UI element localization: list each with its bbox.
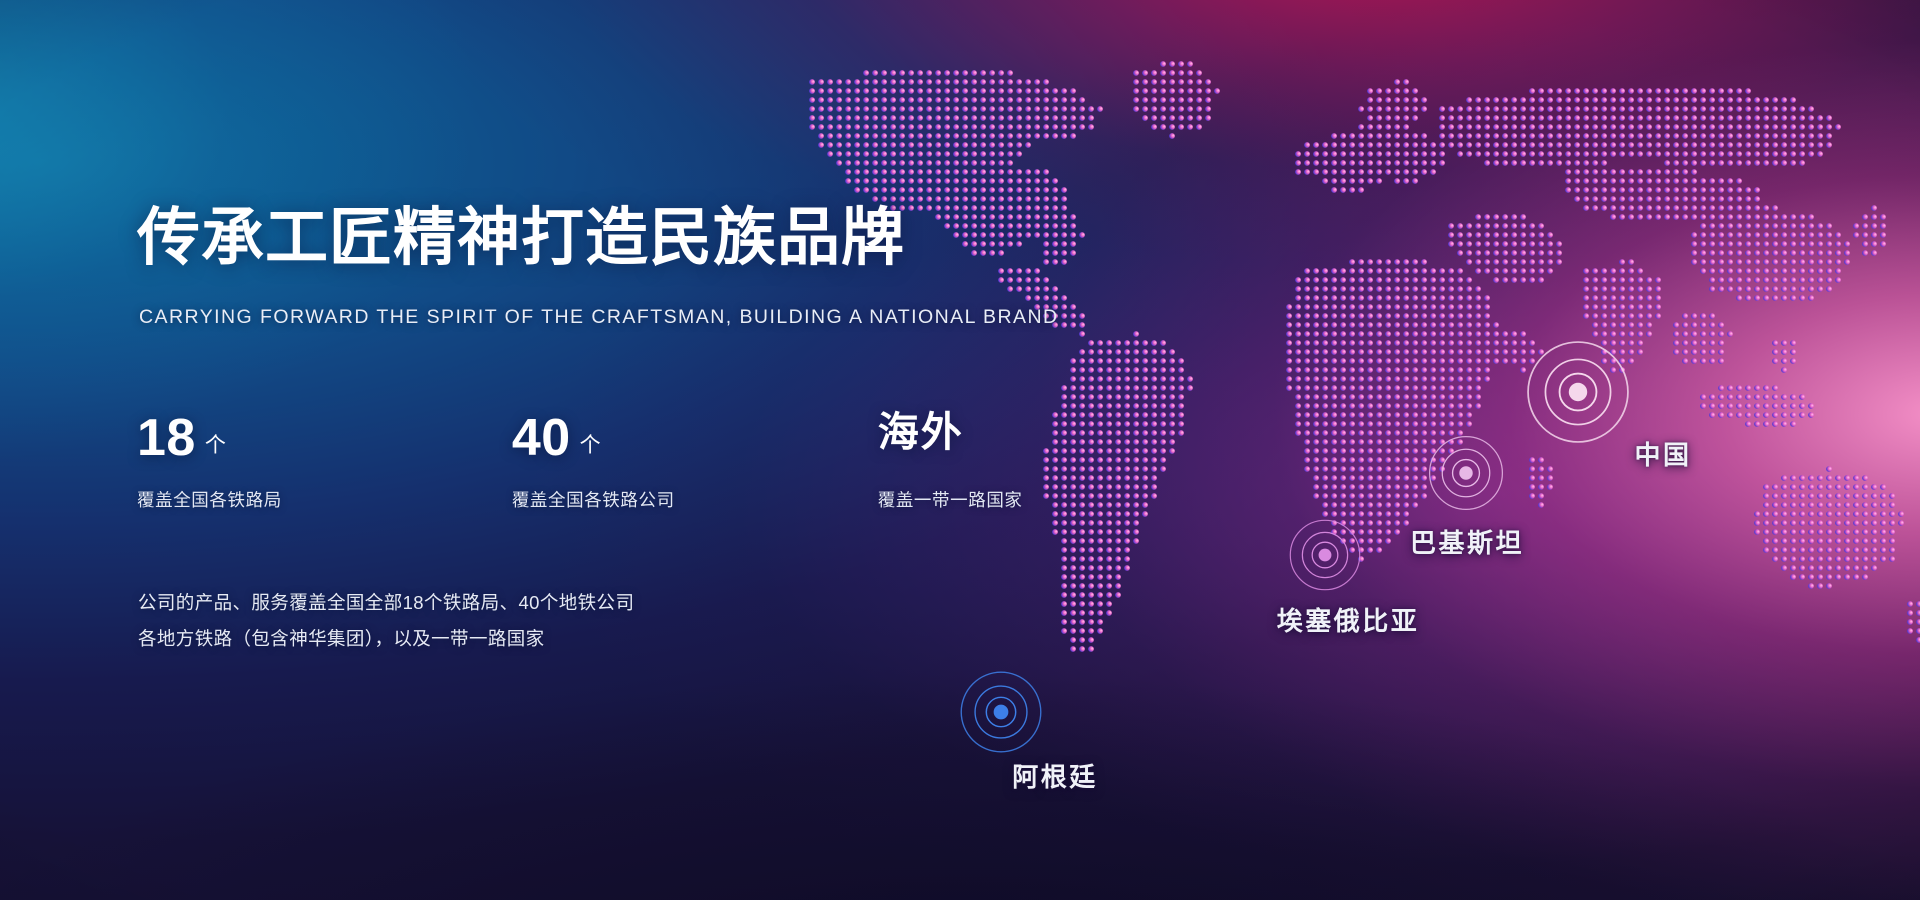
map-marker-pakistan[interactable] [1426,433,1505,512]
stat-label: 覆盖全国各铁路公司 [512,487,675,512]
stat-value-row: 40个 [512,412,675,474]
map-marker-label-ethiopia: 埃塞俄比亚 [1277,601,1420,638]
map-marker-china[interactable] [1524,338,1633,447]
page-title: 传承工匠精神打造民族品牌 [137,205,905,272]
map-marker-label-pakistan: 巴基斯坦 [1410,523,1524,560]
stat-value-row: 18个 [137,412,282,474]
page-subtitle: CARRYING FORWARD THE SPIRIT OF THE CRAFT… [139,306,1059,329]
stat-label: 覆盖一带一路国家 [878,487,1023,512]
marker-rings-icon [1287,517,1362,592]
marker-rings-icon [1524,338,1633,447]
statistics-row: 18个覆盖全国各铁路局40个覆盖全国各铁路公司海外覆盖一带一路国家 [137,412,1023,512]
stat-value: 18 [137,412,196,464]
description-line-0: 公司的产品、服务覆盖全国全部18个铁路局、40个地铁公司 [138,585,634,621]
marker-rings-icon [958,669,1044,755]
stat-value: 海外 [878,412,964,453]
stat-item-0: 18个覆盖全国各铁路局 [137,412,282,512]
stat-label: 覆盖全国各铁路局 [137,487,282,512]
marker-rings-icon [1426,433,1505,512]
map-marker-argentina[interactable] [958,669,1044,755]
description-line-1: 各地方铁路（包含神华集团），以及一带一路国家 [138,621,634,657]
stat-item-2: 海外覆盖一带一路国家 [878,412,1023,512]
map-marker-ethiopia[interactable] [1287,517,1362,592]
map-marker-label-china: 中国 [1634,435,1691,472]
stat-value-row: 海外 [878,412,1023,474]
map-marker-label-argentina: 阿根廷 [1012,757,1098,794]
stat-value: 40 [512,412,571,464]
stat-unit: 个 [205,429,226,459]
stat-unit: 个 [580,429,601,459]
stat-item-1: 40个覆盖全国各铁路公司 [512,412,675,512]
description-paragraph: 公司的产品、服务覆盖全国全部18个铁路局、40个地铁公司各地方铁路（包含神华集团… [138,585,634,656]
promo-banner: 中国巴基斯坦埃塞俄比亚阿根廷 传承工匠精神打造民族品牌 CARRYING FOR… [0,0,1920,900]
